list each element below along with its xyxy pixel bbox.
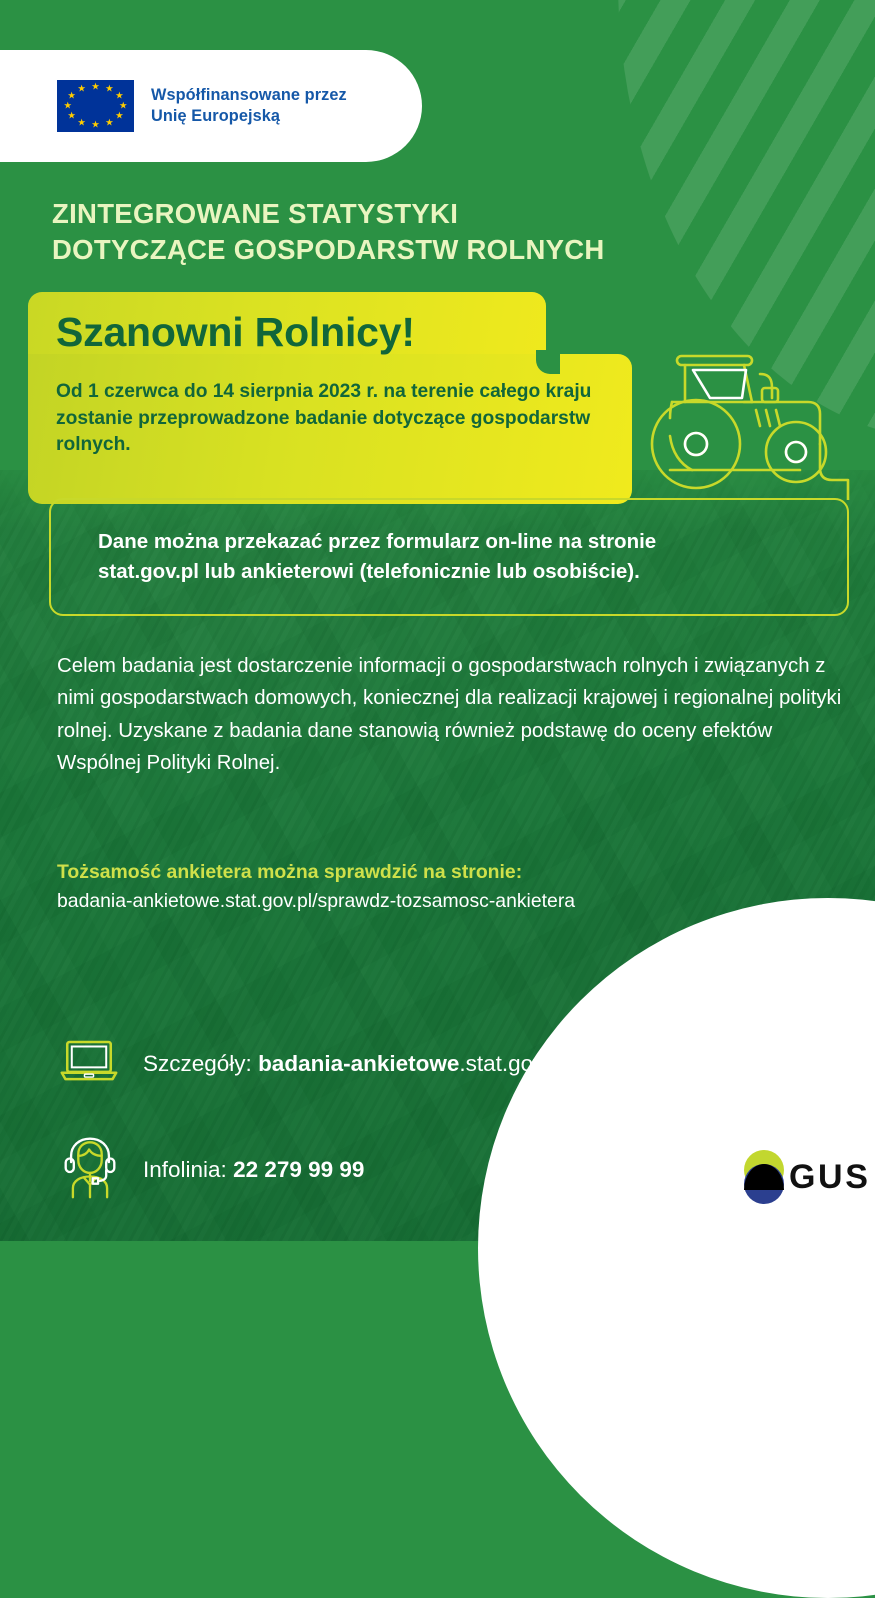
verify-heading: Tożsamość ankietera można sprawdzić na s… (57, 858, 847, 887)
eu-funding-line2: Unię Europejską (151, 106, 347, 127)
website-label: Szczegóły: (143, 1051, 258, 1076)
website-bold-part: badania-ankietowe (258, 1051, 459, 1076)
eu-funding-line1: Współfinansowane przez (151, 85, 347, 106)
highlight-callout: Szanowni Rolnicy! Od 1 czerwca do 14 sie… (28, 292, 632, 504)
callout-heading: Szanowni Rolnicy! (56, 310, 610, 355)
headset-operator-icon (62, 1136, 118, 1204)
infobox-line2: stat.gov.pl lub ankieterowi (telefoniczn… (98, 560, 640, 583)
infobox-line1: Dane można przekazać przez formularz on-… (98, 530, 656, 553)
gus-logo: GUS (744, 1150, 870, 1204)
purpose-paragraph: Celem badania jest dostarczenie informac… (57, 650, 847, 780)
verify-identity-block: Tożsamość ankietera można sprawdzić na s… (57, 858, 847, 917)
online-form-infobox: Dane można przekazać przez formularz on-… (49, 498, 849, 616)
helpline-text: Infolinia: 22 279 99 99 (143, 1157, 364, 1183)
gus-mark-icon (744, 1150, 784, 1204)
tractor-illustration (648, 340, 860, 500)
helpline-row: Infolinia: 22 279 99 99 (62, 1136, 364, 1204)
laptop-icon (60, 1040, 118, 1087)
helpline-label: Infolinia: (143, 1157, 233, 1182)
website-rest-part: .stat.gov.pl (459, 1051, 566, 1076)
helpline-number: 22 279 99 99 (233, 1157, 364, 1182)
eu-funding-text: Współfinansowane przez Unię Europejską (151, 85, 347, 127)
eu-flag-icon: ★ ★ ★ ★ ★ ★ ★ ★ ★ ★ ★ ★ (57, 80, 134, 132)
website-text[interactable]: Szczegóły: badania-ankietowe.stat.gov.pl (143, 1051, 567, 1077)
poster-title: ZINTEGROWANE STATYSTYKI DOTYCZĄCE GOSPOD… (52, 196, 752, 268)
poster-title-line1: ZINTEGROWANE STATYSTYKI (52, 196, 752, 232)
eu-funding-badge: ★ ★ ★ ★ ★ ★ ★ ★ ★ ★ ★ ★ Współfinansowane… (0, 50, 422, 162)
website-row: Szczegóły: badania-ankietowe.stat.gov.pl (60, 1040, 567, 1087)
callout-paragraph: Od 1 czerwca do 14 sierpnia 2023 r. na t… (56, 379, 610, 459)
verify-url[interactable]: badania-ankietowe.stat.gov.pl/sprawdz-to… (57, 887, 847, 916)
poster-title-line2: DOTYCZĄCE GOSPODARSTW ROLNYCH (52, 232, 752, 268)
gus-logo-text: GUS (789, 1158, 870, 1197)
